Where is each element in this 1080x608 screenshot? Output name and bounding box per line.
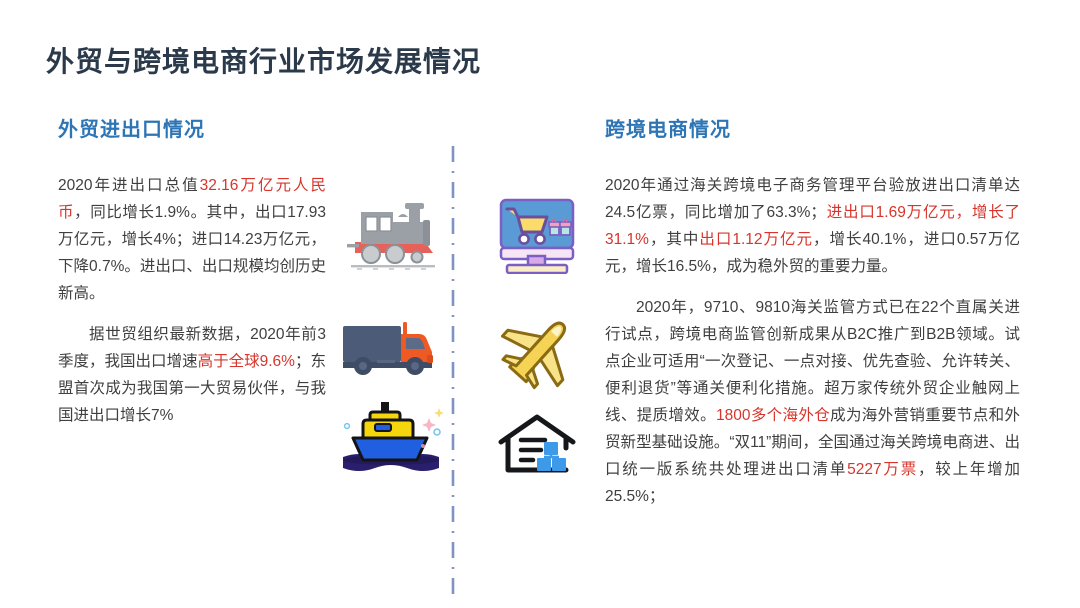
vertical-dash-dot-divider	[451, 146, 453, 596]
online-shopping-monitor-icon	[497, 196, 577, 274]
airplane-icon	[497, 312, 579, 392]
slide-canvas: 外贸与跨境电商行业市场发展情况 外贸进出口情况 2020年进出口总值32.16万…	[0, 0, 1080, 608]
body-text: ，其中	[649, 231, 699, 248]
train-icon	[345, 198, 441, 274]
highlight-text: 1800多个海外仓	[716, 407, 830, 424]
highlight-text: 出口1.12万亿元	[699, 231, 813, 248]
warehouse-icon	[497, 414, 577, 476]
left-column-body: 2020年进出口总值32.16万亿元人民币，同比增长1.9%。其中，出口17.9…	[58, 172, 326, 443]
body-text: 2020年，9710、9810海关监管方式已在22个直属关进行试点，跨境电商监管…	[605, 299, 1020, 424]
paragraph: 2020年，9710、9810海关监管方式已在22个直属关进行试点，跨境电商监管…	[605, 294, 1020, 510]
body-text: ，同比增长1.9%。其中，出口17.93万亿元，增长4%；进口14.23万亿元，…	[58, 204, 326, 302]
body-text: 2020年进出口总值	[58, 177, 200, 194]
right-column-body: 2020年通过海关跨境电子商务管理平台验放进出口清单达24.5亿票，同比增加了6…	[605, 172, 1020, 524]
highlight-text: 5227万票	[847, 461, 918, 478]
paragraph: 2020年进出口总值32.16万亿元人民币，同比增长1.9%。其中，出口17.9…	[58, 172, 326, 307]
paragraph: 2020年通过海关跨境电子商务管理平台验放进出口清单达24.5亿票，同比增加了6…	[605, 172, 1020, 280]
paragraph: 据世贸组织最新数据，2020年前3季度，我国出口增速高于全球9.6%；东盟首次成…	[58, 321, 326, 429]
left-column-heading: 外贸进出口情况	[58, 113, 205, 142]
page-title: 外贸与跨境电商行业市场发展情况	[46, 40, 481, 80]
highlight-text: 高于全球9.6%	[198, 353, 295, 370]
truck-icon	[337, 318, 441, 380]
ship-icon	[333, 402, 449, 482]
right-column-heading: 跨境电商情况	[605, 113, 731, 142]
